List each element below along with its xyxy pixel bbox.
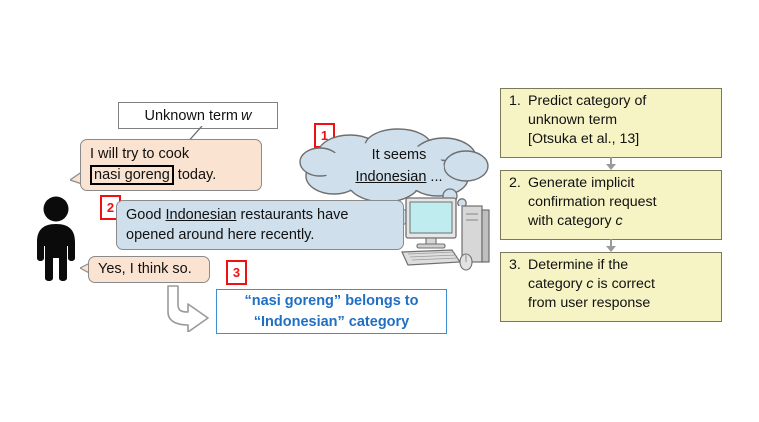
step-1-text: Predict category of unknown term [Otsuka… <box>528 92 715 154</box>
step-3-text: Determine if the category c is correct f… <box>528 256 715 318</box>
step-2-line-2: confirmation request <box>528 193 715 212</box>
step-1-line-2: unknown term <box>528 111 715 130</box>
step-2-category-variable: c <box>616 213 623 229</box>
step-1-line-1: Predict category of <box>528 92 715 111</box>
system-utterance-prefix: Good <box>126 207 166 223</box>
user-utterance-1-line1: I will try to cook <box>90 144 252 164</box>
step-3-line-2: category c is correct <box>528 275 715 294</box>
person-silhouette-icon <box>33 196 79 282</box>
step-box-3: 3. Determine if the category c is correc… <box>500 252 722 322</box>
system-utterance-line1: Good Indonesian restaurants have <box>126 205 394 225</box>
unknown-term-variable: w <box>238 108 251 124</box>
unknown-term-label: Unknown term w <box>118 102 278 129</box>
step-3-line-2-prefix: category <box>528 276 586 292</box>
step-2-text: Generate implicit confirmation request w… <box>528 174 715 236</box>
unknown-term-text: Unknown term <box>145 108 238 124</box>
step-2-number: 2. <box>509 174 528 236</box>
step-box-2: 2. Generate implicit confirmation reques… <box>500 170 722 240</box>
step-1-number: 1. <box>509 92 528 154</box>
system-utterance-suffix: restaurants have <box>236 207 348 223</box>
boxed-unknown-term: nasi goreng <box>90 165 174 185</box>
system-utterance-bubble: Good Indonesian restaurants have opened … <box>116 200 404 250</box>
step-badge-3: 3 <box>226 260 247 285</box>
step-2-line-3-text: with category <box>528 213 616 229</box>
thought-cloud-ellipsis: ... <box>426 169 442 185</box>
thought-cloud-line1: It seems <box>372 145 427 167</box>
step-arrow-2-to-3 <box>604 239 618 252</box>
thought-cloud-line2: Indonesian ... <box>355 167 442 189</box>
desktop-computer-icon <box>400 192 496 274</box>
user-utterance-1-line2-suffix: today. <box>174 167 216 183</box>
system-utterance-category: Indonesian <box>166 207 237 223</box>
conclusion-box: “nasi goreng” belongs to “Indonesian” ca… <box>216 289 447 334</box>
step-1-line-3: [Otsuka et al., 13] <box>528 130 715 149</box>
system-utterance-line2: opened around here recently. <box>126 225 394 245</box>
step-arrow-1-to-2 <box>604 157 618 170</box>
step-3-line-3: from user response <box>528 294 715 313</box>
step-3-line-1: Determine if the <box>528 256 715 275</box>
user-utterance-2-text: Yes, I think so. <box>98 259 192 279</box>
step-3-number: 3. <box>509 256 528 318</box>
step-2-line-3: with category c <box>528 212 715 231</box>
step-3-line-2-suffix: is correct <box>593 276 655 292</box>
diagram-canvas: Unknown term w I will try to cook nasi g… <box>0 0 759 422</box>
step-2-line-1: Generate implicit <box>528 174 715 193</box>
step-box-1: 1. Predict category of unknown term [Ots… <box>500 88 722 158</box>
conclusion-line2: “Indonesian” category <box>254 312 410 333</box>
thought-cloud-text: It seems Indonesian ... <box>324 141 474 193</box>
thought-cloud-underlined-term: Indonesian <box>355 169 426 185</box>
user-utterance-bubble-1: I will try to cook nasi goreng today. <box>80 139 262 191</box>
conclusion-line1: “nasi goreng” belongs to <box>244 291 418 312</box>
user-utterance-1-line2: nasi goreng today. <box>90 165 252 185</box>
user-utterance-bubble-2: Yes, I think so. <box>88 256 210 283</box>
